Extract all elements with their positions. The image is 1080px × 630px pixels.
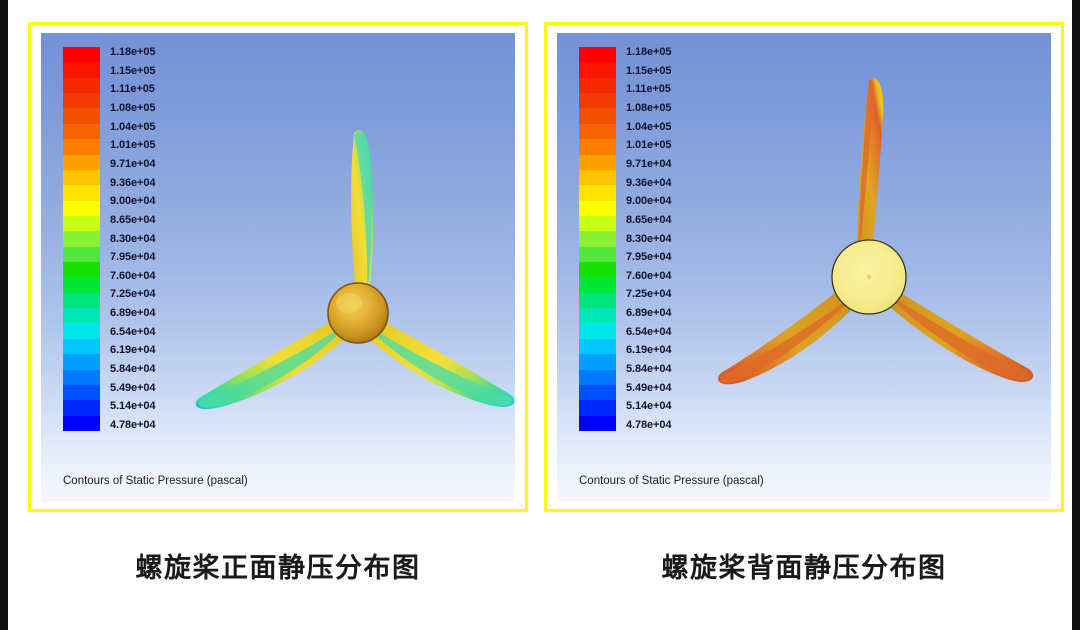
legend-band-8	[63, 170, 100, 185]
legend-tick-label: 9.00e+04	[626, 196, 671, 207]
legend-band-3	[63, 93, 100, 108]
propeller-back-svg	[717, 73, 1051, 413]
legend-tick-label: 5.49e+04	[110, 383, 155, 394]
legend-band-24	[63, 416, 100, 431]
propeller-hub	[328, 283, 388, 343]
legend-band-6	[63, 139, 100, 154]
color-legend-left: 1.18e+051.15e+051.11e+051.08e+051.04e+05…	[63, 47, 184, 431]
legend-band-21	[63, 370, 100, 385]
legend-band-1	[579, 62, 616, 77]
legend-band-0	[63, 47, 100, 62]
slide-canvas: 1.18e+051.15e+051.11e+051.08e+051.04e+05…	[0, 0, 1080, 630]
legend-tick-label: 1.01e+05	[110, 140, 155, 151]
legend-tick-label: 5.84e+04	[626, 364, 671, 375]
legend-tick-label: 8.65e+04	[626, 215, 671, 226]
legend-tick-label: 5.49e+04	[626, 383, 671, 394]
propeller-back-panel: 1.18e+051.15e+051.11e+051.08e+051.04e+05…	[544, 22, 1064, 512]
legend-tick-label: 1.11e+05	[110, 84, 155, 95]
blade-upper	[351, 130, 373, 301]
legend-band-7	[579, 155, 616, 170]
legend-band-16	[63, 293, 100, 308]
legend-tick-label: 1.04e+05	[110, 122, 155, 133]
color-legend-right: 1.18e+051.15e+051.11e+051.08e+051.04e+05…	[579, 47, 700, 431]
legend-band-6	[579, 139, 616, 154]
propeller-back-render	[717, 73, 1051, 413]
legend-band-12	[63, 231, 100, 246]
legend-tick-label: 9.36e+04	[626, 178, 671, 189]
legend-band-1	[63, 62, 100, 77]
blade-lower-left	[196, 315, 351, 409]
legend-colorbar-right	[579, 47, 616, 431]
legend-band-21	[579, 370, 616, 385]
legend-tick-label: 7.95e+04	[626, 252, 671, 263]
legend-tick-label: 9.71e+04	[626, 159, 671, 170]
legend-tick-label: 8.30e+04	[110, 234, 155, 245]
legend-tick-label: 7.25e+04	[110, 289, 155, 300]
legend-colorbar-left	[63, 47, 100, 431]
legend-band-10	[63, 201, 100, 216]
legend-tick-label: 6.19e+04	[110, 345, 155, 356]
viewport-caption-right: Contours of Static Pressure (pascal)	[579, 475, 764, 487]
legend-band-11	[63, 216, 100, 231]
legend-band-11	[579, 216, 616, 231]
legend-band-24	[579, 416, 616, 431]
legend-band-23	[63, 400, 100, 415]
left-edge-strip	[0, 0, 8, 630]
legend-band-16	[579, 293, 616, 308]
legend-tick-label: 6.19e+04	[626, 345, 671, 356]
legend-band-20	[579, 354, 616, 369]
figure-caption-right: 螺旋桨背面静压分布图	[544, 546, 1064, 585]
legend-band-2	[579, 78, 616, 93]
legend-band-20	[63, 354, 100, 369]
legend-band-3	[579, 93, 616, 108]
legend-band-8	[579, 170, 616, 185]
propeller-hub	[832, 240, 906, 314]
propeller-front-render	[191, 123, 515, 443]
propeller-front-svg	[191, 123, 515, 443]
legend-tick-label: 1.01e+05	[626, 140, 671, 151]
legend-band-5	[63, 124, 100, 139]
legend-tick-label: 5.14e+04	[110, 401, 155, 412]
legend-tick-label: 1.18e+05	[626, 47, 671, 58]
legend-tick-label: 1.18e+05	[110, 47, 155, 58]
legend-band-15	[579, 277, 616, 292]
legend-band-22	[63, 385, 100, 400]
legend-band-17	[63, 308, 100, 323]
legend-band-15	[63, 277, 100, 292]
legend-band-12	[579, 231, 616, 246]
fluent-viewport-left: 1.18e+051.15e+051.11e+051.08e+051.04e+05…	[41, 33, 515, 501]
legend-band-18	[579, 323, 616, 338]
propeller-front-panel: 1.18e+051.15e+051.11e+051.08e+051.04e+05…	[28, 22, 528, 512]
legend-band-19	[579, 339, 616, 354]
legend-band-0	[579, 47, 616, 62]
legend-tick-label: 4.78e+04	[110, 420, 155, 431]
legend-band-22	[579, 385, 616, 400]
legend-tick-labels-left: 1.18e+051.15e+051.11e+051.08e+051.04e+05…	[110, 47, 184, 431]
legend-tick-label: 9.71e+04	[110, 159, 155, 170]
legend-tick-label: 7.60e+04	[110, 271, 155, 282]
legend-band-14	[579, 262, 616, 277]
legend-band-2	[63, 78, 100, 93]
legend-tick-label: 5.14e+04	[626, 401, 671, 412]
legend-tick-label: 7.95e+04	[110, 252, 155, 263]
legend-tick-label: 7.60e+04	[626, 271, 671, 282]
legend-tick-label: 1.08e+05	[110, 103, 155, 114]
legend-tick-label: 5.84e+04	[110, 364, 155, 375]
legend-tick-label: 4.78e+04	[626, 420, 671, 431]
legend-band-4	[63, 108, 100, 123]
fluent-viewport-right: 1.18e+051.15e+051.11e+051.08e+051.04e+05…	[557, 33, 1051, 501]
legend-tick-labels-right: 1.18e+051.15e+051.11e+051.08e+051.04e+05…	[626, 47, 700, 431]
legend-tick-label: 8.65e+04	[110, 215, 155, 226]
legend-band-17	[579, 308, 616, 323]
legend-band-14	[63, 262, 100, 277]
blade-lower-right	[363, 315, 514, 407]
legend-tick-label: 1.08e+05	[626, 103, 671, 114]
legend-band-13	[579, 247, 616, 262]
legend-band-7	[63, 155, 100, 170]
legend-band-9	[63, 185, 100, 200]
legend-tick-label: 1.11e+05	[626, 84, 671, 95]
legend-tick-label: 9.00e+04	[110, 196, 155, 207]
legend-tick-label: 7.25e+04	[626, 289, 671, 300]
legend-band-4	[579, 108, 616, 123]
legend-tick-label: 9.36e+04	[110, 178, 155, 189]
legend-tick-label: 8.30e+04	[626, 234, 671, 245]
legend-tick-label: 6.89e+04	[110, 308, 155, 319]
figure-caption-left: 螺旋桨正面静压分布图	[28, 546, 528, 585]
blade-lower-left	[718, 285, 859, 384]
legend-tick-label: 6.54e+04	[626, 327, 671, 338]
legend-band-10	[579, 201, 616, 216]
viewport-caption-left: Contours of Static Pressure (pascal)	[63, 475, 248, 487]
legend-tick-label: 6.54e+04	[110, 327, 155, 338]
blade-upper	[857, 78, 883, 267]
legend-band-23	[579, 400, 616, 415]
legend-band-19	[63, 339, 100, 354]
blade-lower-right	[881, 283, 1033, 382]
legend-band-13	[63, 247, 100, 262]
legend-tick-label: 1.15e+05	[626, 66, 671, 77]
legend-band-9	[579, 185, 616, 200]
legend-band-18	[63, 323, 100, 338]
legend-tick-label: 6.89e+04	[626, 308, 671, 319]
legend-band-5	[579, 124, 616, 139]
legend-tick-label: 1.04e+05	[626, 122, 671, 133]
right-edge-strip	[1072, 0, 1080, 630]
legend-tick-label: 1.15e+05	[110, 66, 155, 77]
